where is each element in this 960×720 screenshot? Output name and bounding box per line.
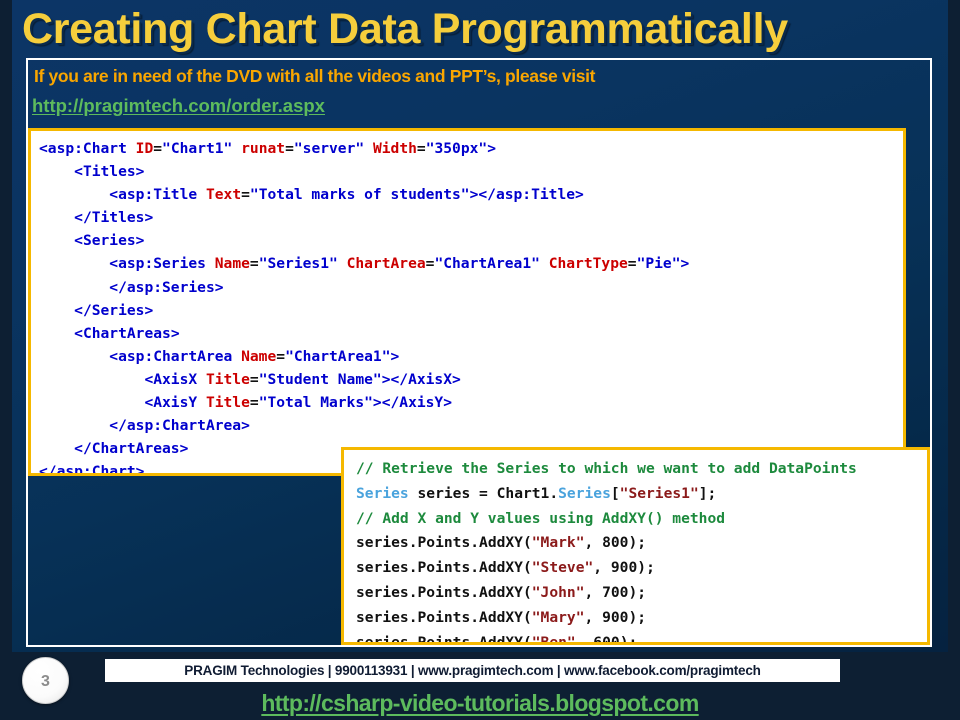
aspx-markup-code-text: <asp:Chart ID="Chart1" runat="server" Wi…	[31, 131, 903, 476]
presentation-slide: Creating Chart Data Programmatically If …	[0, 0, 960, 720]
csharp-code-text: // Retrieve the Series to which we want …	[344, 450, 927, 645]
aspx-markup-code-block: <asp:Chart ID="Chart1" runat="server" Wi…	[28, 128, 906, 476]
dvd-promo-text: If you are in need of the DVD with all t…	[34, 66, 595, 87]
page-title: Creating Chart Data Programmatically	[22, 2, 942, 58]
csharp-code-block: // Retrieve the Series to which we want …	[341, 447, 930, 645]
blog-link[interactable]: http://csharp-video-tutorials.blogspot.c…	[0, 690, 960, 717]
order-page-link[interactable]: http://pragimtech.com/order.aspx	[32, 95, 325, 117]
footer-contact-banner: PRAGIM Technologies | 9900113931 | www.p…	[105, 659, 840, 682]
